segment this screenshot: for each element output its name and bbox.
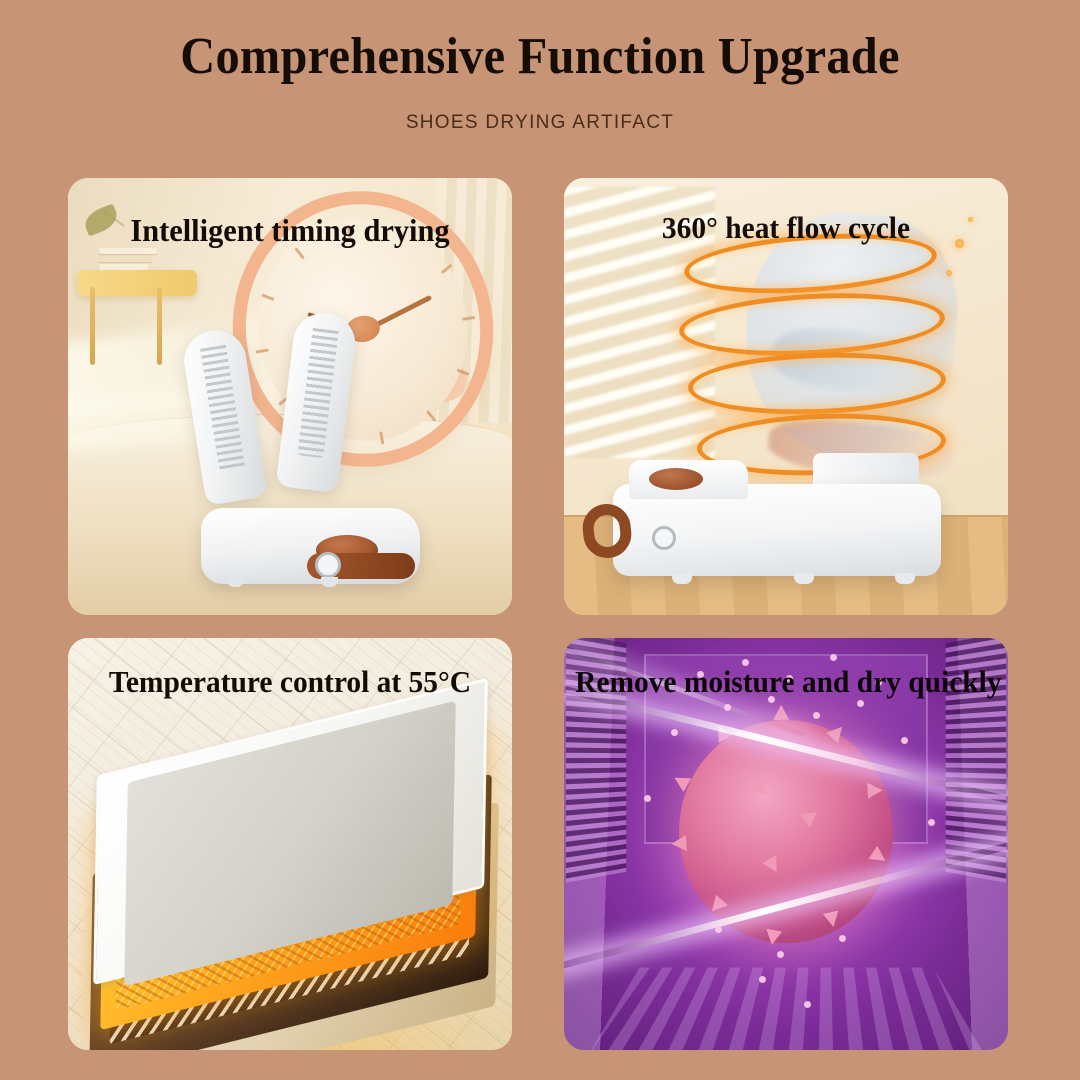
dryer-foot: [794, 573, 814, 584]
dryer-arm-right: [276, 309, 359, 493]
page-subtitle: SHOES DRYING ARTIFACT: [0, 111, 1080, 135]
vent-holes: [200, 341, 246, 471]
panel-caption-sterilize: Remove moisture and dry quickly: [575, 664, 997, 700]
side-table-leg: [90, 287, 95, 365]
header: Comprehensive Function Upgrade SHOES DRY…: [0, 0, 1080, 135]
shoe-dryer-device: [188, 335, 454, 588]
panel-caption-timing: Intelligent timing drying: [79, 212, 501, 249]
dryer-arm-left: [180, 326, 268, 506]
dryer-foot: [321, 577, 338, 587]
panel-caption-temperature: Temperature control at 55°C: [79, 664, 501, 700]
dryer-foot: [672, 573, 692, 584]
heating-element-stack: [95, 737, 486, 992]
dryer-foot: [895, 573, 915, 584]
heat-spark: [946, 270, 952, 276]
panel-caption-heat-flow: 360° heat flow cycle: [575, 210, 997, 246]
timer-dial: [652, 526, 676, 550]
vent-holes: [298, 324, 340, 457]
feature-panel-timing[interactable]: Intelligent timing drying: [68, 178, 512, 615]
page-title: Comprehensive Function Upgrade: [38, 26, 1042, 88]
feature-panel-temperature[interactable]: Temperature control at 55°C: [68, 638, 512, 1050]
dryer-base: [201, 508, 419, 584]
feature-panel-sterilize[interactable]: Remove moisture and dry quickly: [564, 638, 1008, 1050]
timer-dial: [315, 552, 341, 578]
dryer-base: [613, 484, 942, 576]
feature-panel-heat-flow[interactable]: 360° heat flow cycle: [564, 178, 1008, 615]
feature-panel-grid: Intelligent timing drying: [68, 178, 1008, 1050]
dryer-foot: [227, 577, 244, 587]
side-table-leg: [157, 287, 162, 365]
